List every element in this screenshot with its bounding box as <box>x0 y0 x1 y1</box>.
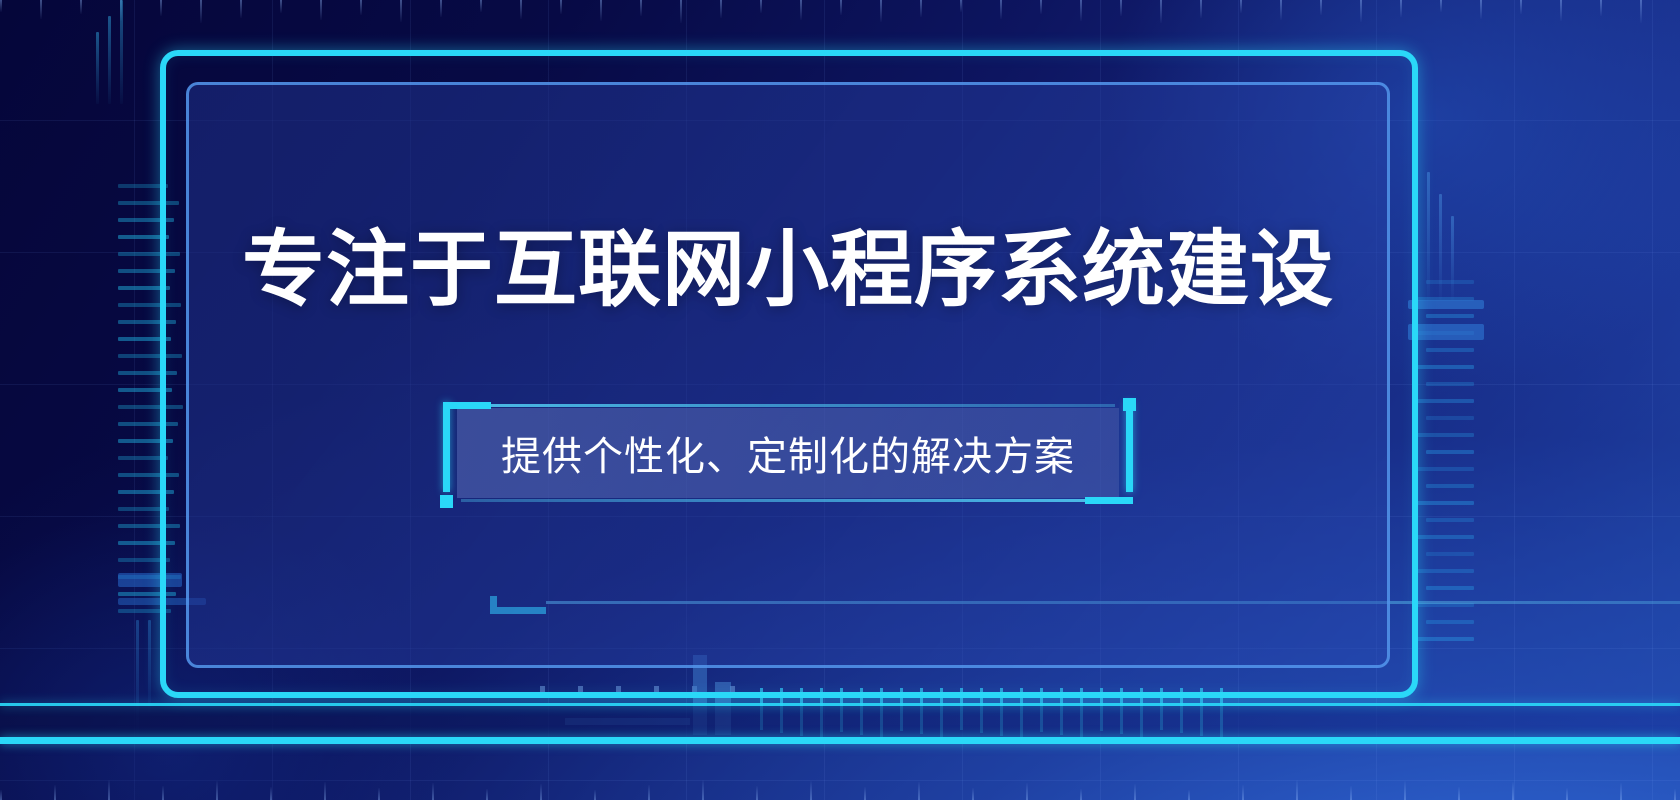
tick-mark <box>1458 787 1460 800</box>
tick-mark <box>1160 688 1163 730</box>
tick-mark <box>918 782 920 800</box>
tick-mark <box>1427 172 1430 300</box>
tick-mark <box>616 686 621 693</box>
tick-mark <box>594 790 596 800</box>
tick-mark <box>840 688 843 732</box>
tick-mark <box>118 388 172 392</box>
tick-mark <box>118 337 171 341</box>
tick-mark <box>118 422 178 426</box>
bottom-beam-thin <box>0 703 1680 706</box>
tick-mark <box>1320 0 1322 15</box>
tick-mark <box>118 405 183 409</box>
tick-mark <box>640 0 642 16</box>
tick-mark <box>118 218 174 222</box>
tick-mark <box>880 0 882 22</box>
tick-mark <box>800 688 803 736</box>
tick-mark <box>118 371 177 375</box>
tick-mark <box>1417 603 1474 607</box>
tick-mark <box>810 781 812 800</box>
tick-mark <box>1000 688 1003 736</box>
tick-mark <box>378 788 380 800</box>
tick-mark <box>148 620 151 714</box>
tick-mark <box>1560 0 1562 21</box>
tick-mark <box>432 783 434 800</box>
tick-mark <box>1426 586 1474 590</box>
tick-mark <box>1417 399 1474 403</box>
tick-mark <box>760 688 763 730</box>
tick-mark <box>1426 552 1474 556</box>
tick-mark <box>1040 0 1042 14</box>
tick-mark <box>780 688 783 733</box>
tick-mark <box>1100 688 1103 731</box>
tick-mark <box>1360 0 1362 22</box>
bracket-right-icon <box>1085 408 1133 498</box>
tick-mark <box>360 0 362 15</box>
right-ladder-block-a <box>1408 300 1484 309</box>
hero-banner: 专注于互联网小程序系统建设 提供个性化、定制化的解决方案 <box>0 0 1680 800</box>
tick-mark <box>1020 688 1023 739</box>
tick-mark <box>1140 688 1143 737</box>
tick-mark <box>1026 783 1028 800</box>
tick-mark <box>1350 786 1352 800</box>
tick-mark <box>1134 784 1136 800</box>
tick-mark <box>400 0 402 22</box>
tick-mark <box>1674 789 1676 800</box>
tick-mark <box>1417 433 1474 437</box>
tick-mark <box>118 592 176 596</box>
tick-mark <box>1417 365 1474 369</box>
tick-mark <box>1566 788 1568 800</box>
tick-mark <box>900 688 903 731</box>
tick-mark <box>118 201 179 205</box>
tick-mark <box>1200 0 1202 18</box>
tick-mark <box>270 787 272 800</box>
tick-mark <box>940 688 943 737</box>
tick-mark <box>96 32 99 104</box>
tick-mark <box>1417 535 1474 539</box>
tick-mark <box>1520 0 1522 14</box>
pin-streaks-bottom-left <box>136 620 163 770</box>
tick-mark <box>118 473 179 477</box>
tick-mark <box>1220 688 1223 739</box>
tick-mark <box>118 507 169 511</box>
tick-mark <box>840 0 842 15</box>
tick-mark <box>920 688 923 734</box>
tick-mark <box>1000 0 1002 19</box>
tick-mark <box>1480 0 1482 19</box>
tick-mark <box>118 456 168 460</box>
tick-mark <box>960 688 963 730</box>
tick-mark <box>118 541 175 545</box>
bottom-bar-flat <box>565 718 690 725</box>
left-ladder-ticks <box>118 184 183 613</box>
tick-mark <box>860 688 863 735</box>
tick-mark <box>40 0 42 19</box>
tick-mark <box>1512 782 1514 800</box>
tick-mark <box>118 184 168 188</box>
tick-mark <box>108 780 110 800</box>
tick-mark <box>600 0 602 21</box>
tick-mark <box>162 786 164 800</box>
tick-mark <box>820 688 823 739</box>
tick-mark <box>118 252 180 256</box>
tick-mark <box>1439 194 1442 300</box>
tick-mark <box>1080 0 1082 21</box>
pin-streaks-right-top <box>1427 170 1454 300</box>
tick-mark <box>540 686 545 693</box>
tick-mark <box>1426 314 1474 318</box>
tick-mark <box>1426 280 1474 284</box>
tick-mark <box>324 782 326 800</box>
bottom-tick-marks <box>0 774 1680 800</box>
tick-mark <box>216 781 218 800</box>
tick-mark <box>1280 0 1282 20</box>
tick-mark <box>760 0 762 13</box>
tick-mark <box>972 788 974 800</box>
tick-mark <box>0 0 2 12</box>
top-tick-marks <box>0 0 1680 26</box>
tick-mark <box>118 303 181 307</box>
bracket-left-icon <box>443 408 491 498</box>
tick-mark <box>240 0 242 18</box>
page-title: 专注于互联网小程序系统建设 <box>242 224 1334 315</box>
banner-content: 专注于互联网小程序系统建设 提供个性化、定制化的解决方案 <box>186 82 1390 668</box>
tick-mark <box>1242 785 1244 800</box>
tick-mark <box>1426 484 1474 488</box>
tick-mark <box>540 784 542 800</box>
tick-mark <box>1120 0 1122 16</box>
tick-mark <box>160 0 162 16</box>
tick-mark <box>880 688 883 738</box>
tick-mark <box>980 688 983 733</box>
tick-mark <box>118 490 174 494</box>
tick-mark <box>1451 216 1454 300</box>
tick-mark <box>1426 416 1474 420</box>
tick-mark <box>118 286 170 290</box>
tick-mark <box>320 0 322 20</box>
tick-mark <box>680 0 682 23</box>
tick-mark <box>1426 348 1474 352</box>
tick-mark <box>118 439 173 443</box>
tick-mark <box>118 320 176 324</box>
tick-mark <box>920 0 922 17</box>
bottom-comb-bars <box>760 688 1223 739</box>
tick-mark <box>1640 0 1642 23</box>
tick-mark <box>560 0 562 14</box>
tick-mark <box>1080 789 1082 800</box>
tick-mark <box>864 787 866 800</box>
tick-mark <box>160 620 163 688</box>
tick-mark <box>654 686 659 693</box>
tick-mark <box>118 609 171 613</box>
tick-mark <box>1200 688 1203 736</box>
tick-mark <box>1400 0 1402 17</box>
tick-mark <box>440 0 442 17</box>
tick-mark <box>1417 501 1474 505</box>
subtitle-plate: 提供个性化、定制化的解决方案 <box>457 408 1119 498</box>
tick-mark <box>118 354 182 358</box>
tick-mark <box>1404 781 1406 800</box>
right-ladder-block-b <box>1408 324 1484 340</box>
tick-mark <box>1180 688 1183 733</box>
page-subtitle: 提供个性化、定制化的解决方案 <box>501 435 1075 479</box>
tick-mark <box>1240 0 1242 13</box>
tick-mark <box>80 0 82 14</box>
tick-mark <box>120 0 122 21</box>
tick-mark <box>1040 688 1043 732</box>
tick-mark <box>1426 382 1474 386</box>
tick-mark <box>1600 0 1602 16</box>
bottom-bar-short <box>715 682 731 735</box>
bracket-cap-bottom-left-icon <box>440 495 453 508</box>
tick-mark <box>1426 518 1474 522</box>
tick-mark <box>1426 450 1474 454</box>
tick-mark <box>118 235 169 239</box>
tick-mark <box>1426 620 1474 624</box>
tick-mark <box>0 790 2 800</box>
tick-mark <box>702 780 704 800</box>
tick-mark <box>118 269 175 273</box>
tick-mark <box>108 16 111 104</box>
tick-mark <box>1417 467 1474 471</box>
tick-mark <box>118 558 170 562</box>
tick-mark <box>1417 637 1474 641</box>
bracket-top-line <box>491 404 1115 407</box>
tick-mark <box>520 0 522 19</box>
tick-mark <box>1120 688 1123 734</box>
tick-mark <box>54 785 56 800</box>
pin-streaks-top-left <box>96 0 123 104</box>
bracket-bottom-line <box>461 499 1085 502</box>
tick-mark <box>1160 0 1162 23</box>
left-ladder-block-a <box>118 573 182 587</box>
bracket-cap-top-right-icon <box>1123 398 1136 411</box>
tick-mark <box>1417 569 1474 573</box>
tick-mark <box>800 0 802 20</box>
tick-mark <box>720 0 722 18</box>
tick-mark <box>280 0 282 13</box>
tick-mark <box>578 686 583 693</box>
tick-mark <box>486 789 488 800</box>
tick-mark <box>1296 780 1298 800</box>
tick-mark <box>756 786 758 800</box>
tick-mark <box>1188 790 1190 800</box>
tick-mark <box>200 0 202 23</box>
tick-mark <box>136 620 139 740</box>
tick-mark <box>1080 688 1083 738</box>
bottom-beam-band <box>0 706 1680 737</box>
tick-mark <box>1060 688 1063 735</box>
tick-mark <box>1440 0 1442 12</box>
tick-mark <box>118 524 180 528</box>
tick-mark <box>1620 783 1622 800</box>
tick-mark <box>648 785 650 800</box>
bottom-beam-thick <box>0 737 1680 744</box>
tick-mark <box>120 0 123 104</box>
tick-mark <box>480 0 482 12</box>
tick-mark <box>960 0 962 12</box>
